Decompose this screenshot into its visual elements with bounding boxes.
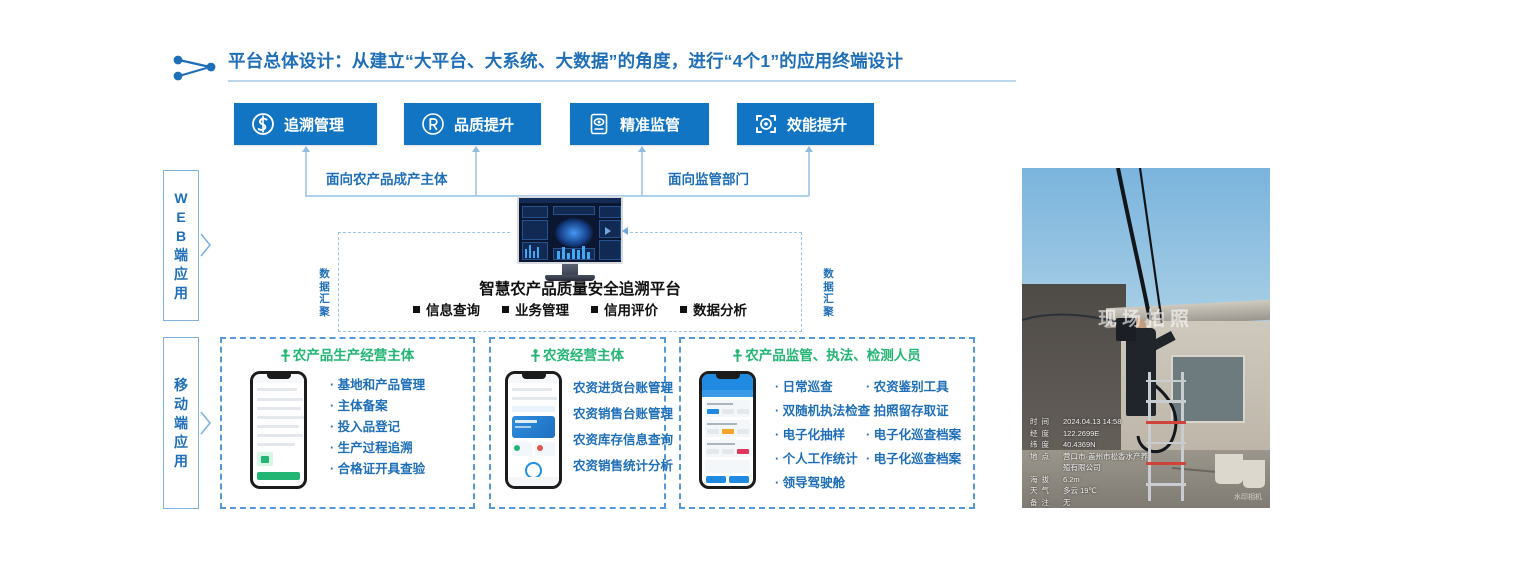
photo-bucket	[1243, 460, 1265, 487]
bracket-label-left: 面向农产品成产主体	[326, 168, 448, 188]
list-item: · 农资鉴别工具	[866, 375, 961, 399]
aggregation-label-left: 数据汇聚	[318, 268, 331, 318]
mobile-panel-list-col1: · 日常巡查 · 双随机执法检查 · 电子化抽样 · 个人工作统计 · 领导驾驶…	[775, 375, 870, 495]
mobile-panel-agri-supply: 农资经营主体 农资进货台账管理 农资销售台账管理 农资库存信息查询 农资销售统计…	[489, 337, 666, 509]
overlay-key: 天气	[1030, 485, 1056, 497]
overlay-key: 时间	[1030, 416, 1056, 428]
top-button-traceability[interactable]: 追溯管理	[234, 103, 377, 145]
overlay-value: 无	[1063, 497, 1071, 509]
side-box-web: W E B 端 应 用	[163, 170, 199, 321]
person-icon	[733, 349, 742, 362]
top-button-efficiency[interactable]: 效能提升	[737, 103, 874, 145]
title-row: 平台总体设计：从建立“大平台、大系统、大数据”的角度，进行“4个1”的应用终端设…	[172, 46, 962, 88]
list-item: 农资销售统计分析	[573, 453, 673, 479]
list-item: · 电子化巡查档案	[866, 447, 961, 471]
mobile-panel-producer: 农产品生产经营主体 · 基地和产品管理 · 主体备案 · 投入品登记 · 生产过…	[220, 337, 475, 509]
chevron-right-icon	[199, 232, 213, 258]
platform-name: 智慧农产品质量安全追溯平台	[350, 277, 810, 299]
overlay-row: 备注 无	[1030, 497, 1148, 509]
top-button-label: 品质提升	[454, 114, 514, 135]
connector-line	[305, 152, 307, 196]
list-item: · 生产过程追溯	[330, 438, 425, 459]
connector-line	[641, 152, 643, 196]
efficiency-scan-icon	[754, 112, 778, 136]
connector-line	[808, 152, 810, 196]
top-button-label: 追溯管理	[284, 114, 344, 135]
overlay-key	[1030, 462, 1056, 474]
mobile-panel-title: 农资经营主体	[491, 344, 664, 364]
list-item: · 拍照留存取证	[866, 399, 961, 423]
platform-feature: 信息查询	[413, 299, 480, 319]
person-icon	[531, 349, 540, 362]
phone-mockup	[699, 371, 756, 489]
overlay-key: 海拔	[1030, 474, 1056, 486]
platform-feature: 业务管理	[502, 299, 569, 319]
mobile-panel-list: 农资进货台账管理 农资销售台账管理 农资库存信息查询 农资销售统计分析	[573, 375, 673, 479]
top-button-quality[interactable]: 品质提升	[404, 103, 541, 145]
top-button-label: 效能提升	[787, 114, 847, 135]
chevron-right-icon	[199, 410, 213, 436]
slide-canvas: 平台总体设计：从建立“大平台、大系统、大数据”的角度，进行“4个1”的应用终端设…	[0, 0, 1515, 578]
mobile-panel-list-col2: · 农资鉴别工具 · 拍照留存取证 · 电子化巡查档案 · 电子化巡查档案	[866, 375, 961, 471]
photo-watermark: 现场拍照	[1034, 304, 1258, 331]
overlay-key: 备注	[1030, 497, 1056, 509]
overlay-key: 地点	[1030, 451, 1056, 463]
overlay-key: 经度	[1030, 428, 1056, 440]
top-button-label: 精准监管	[620, 114, 680, 135]
overlay-value: 多云 19℃	[1063, 485, 1097, 497]
mobile-panel-title: 农产品生产经营主体	[222, 344, 473, 364]
overlay-value: 殖有限公司	[1063, 462, 1101, 474]
overlay-row: 纬度 40.4369N	[1030, 439, 1148, 451]
phone-mockup	[250, 371, 307, 489]
photo-bucket	[1215, 454, 1242, 485]
title-underline	[228, 80, 1016, 82]
platform-features: 信息查询 业务管理 信用评价 数据分析	[350, 299, 810, 319]
list-item: · 投入品登记	[330, 417, 425, 438]
mobile-panel-list: · 基地和产品管理 · 主体备案 · 投入品登记 · 生产过程追溯 · 合格证开…	[330, 375, 425, 480]
bracket-label-right: 面向监管部门	[668, 168, 749, 188]
photo-overlay-info: 时间 2024.04.13 14:58 经度 122.2699E 纬度 40.4…	[1030, 416, 1148, 508]
page-title: 平台总体设计：从建立“大平台、大系统、大数据”的角度，进行“4个1”的应用终端设…	[228, 46, 903, 76]
monitor-eye-icon	[587, 112, 611, 136]
list-item: · 电子化抽样	[775, 423, 870, 447]
mobile-panel-regulator: 农产品监管、执法、检测人员 · 日常巡查	[679, 337, 975, 509]
overlay-value: 6.2m	[1063, 474, 1080, 486]
share-node-icon	[172, 52, 218, 82]
overlay-row: 天气 多云 19℃	[1030, 485, 1148, 497]
overlay-row: 殖有限公司	[1030, 462, 1148, 474]
overlay-value: 2024.04.13 14:58	[1063, 416, 1121, 428]
list-item: · 个人工作统计	[775, 447, 870, 471]
top-button-supervision[interactable]: 精准监管	[570, 103, 709, 145]
overlay-value: 40.4369N	[1063, 439, 1096, 451]
aggregation-arrow-right	[605, 227, 611, 235]
list-item: · 日常巡查	[775, 375, 870, 399]
overlay-value: 营口市·盖州市松香水产养	[1063, 451, 1148, 463]
overlay-row: 海拔 6.2m	[1030, 474, 1148, 486]
list-item: · 合格证开具查验	[330, 459, 425, 480]
list-item: 农资库存信息查询	[573, 427, 673, 453]
phone-mockup	[505, 371, 562, 489]
platform-feature: 数据分析	[680, 299, 747, 319]
overlay-row: 经度 122.2699E	[1030, 428, 1148, 440]
list-item: · 双随机执法检查	[775, 399, 870, 423]
photo-brand: 水印相机	[1234, 492, 1262, 502]
list-item: · 电子化巡查档案	[866, 423, 961, 447]
connector-line	[475, 152, 477, 196]
list-item: 农资销售台账管理	[573, 401, 673, 427]
overlay-row: 时间 2024.04.13 14:58	[1030, 416, 1148, 428]
photo-ladder	[1146, 372, 1186, 501]
platform-feature: 信用评价	[591, 299, 658, 319]
person-icon	[281, 349, 290, 362]
list-item: · 主体备案	[330, 396, 425, 417]
overlay-value: 122.2699E	[1063, 428, 1099, 440]
side-box-mobile: 移 动 端 应 用	[163, 337, 199, 509]
list-item: · 领导驾驶舱	[775, 471, 870, 495]
side-box-web-label: W E B 端 应 用	[171, 189, 191, 303]
side-box-mobile-label: 移 动 端 应 用	[171, 376, 191, 471]
traceability-icon	[251, 112, 275, 136]
registered-mark-icon	[421, 112, 445, 136]
aggregation-arrow-left	[622, 227, 628, 235]
list-item: 农资进货台账管理	[573, 375, 673, 401]
overlay-key: 纬度	[1030, 439, 1056, 451]
mobile-panel-title: 农产品监管、执法、检测人员	[681, 344, 973, 364]
field-photo: 现场拍照 时间 2024.04.13 14:58 经度 122.2699E 纬度…	[1022, 168, 1270, 508]
overlay-row: 地点 营口市·盖州市松香水产养	[1030, 451, 1148, 463]
list-item: · 基地和产品管理	[330, 375, 425, 396]
aggregation-label-right: 数据汇聚	[822, 268, 835, 318]
